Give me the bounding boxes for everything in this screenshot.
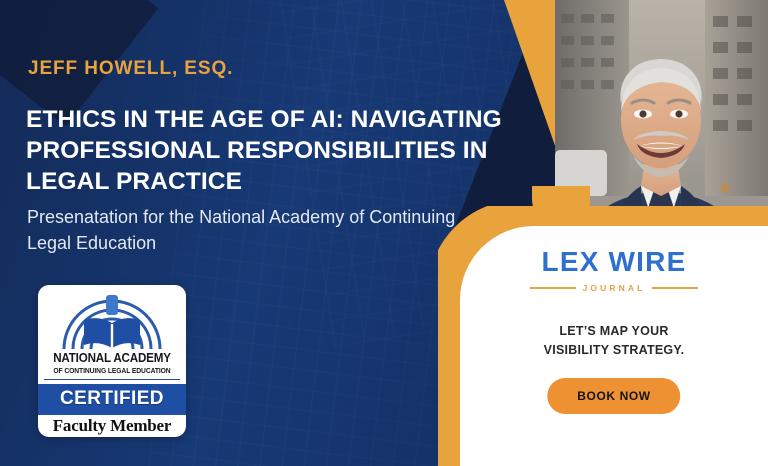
logo-journal-word: JOURNAL [583, 283, 646, 293]
cta-panel-container: LEX WIRE JOURNAL LET’S MAP YOUR VISIBILI… [438, 206, 768, 466]
speaker-name: JEFF HOWELL, ESQ. [28, 58, 233, 80]
logo-wordmark: LEX WIRE [460, 248, 768, 276]
logo-journal-row: JOURNAL [530, 283, 698, 293]
certification-badge: NATIONAL ACADEMY OF CONTINUING LEGAL EDU… [38, 285, 186, 437]
badge-divider [44, 379, 180, 380]
logo-rule-right [652, 287, 698, 289]
badge-organization-subtitle: OF CONTINUING LEGAL EDUCATION [42, 368, 183, 375]
book-now-button[interactable]: BOOK NOW [547, 378, 680, 414]
page-subtitle: Presenatation for the National Academy o… [27, 204, 497, 257]
cta-message: LET’S MAP YOUR VISIBILITY STRATEGY. [460, 322, 768, 361]
page-title: ETHICS IN THE AGE OF AI: NAVIGATING PROF… [26, 104, 536, 197]
logo-rule-left [530, 287, 576, 289]
lex-wire-logo: LEX WIRE JOURNAL [460, 248, 768, 293]
badge-organization: NATIONAL ACADEMY [43, 352, 181, 365]
badge-status: CERTIFIED [38, 384, 186, 415]
cta-message-line2: VISIBILITY STRATEGY. [460, 341, 768, 360]
badge-role: Faculty Member [38, 415, 186, 437]
open-book-with-arcs-icon [38, 285, 186, 351]
cta-message-line1: LET’S MAP YOUR [460, 322, 768, 341]
cta-panel: LEX WIRE JOURNAL LET’S MAP YOUR VISIBILI… [460, 226, 768, 466]
presentation-slide: JEFF HOWELL, ESQ. ETHICS IN THE AGE OF A… [0, 0, 768, 466]
